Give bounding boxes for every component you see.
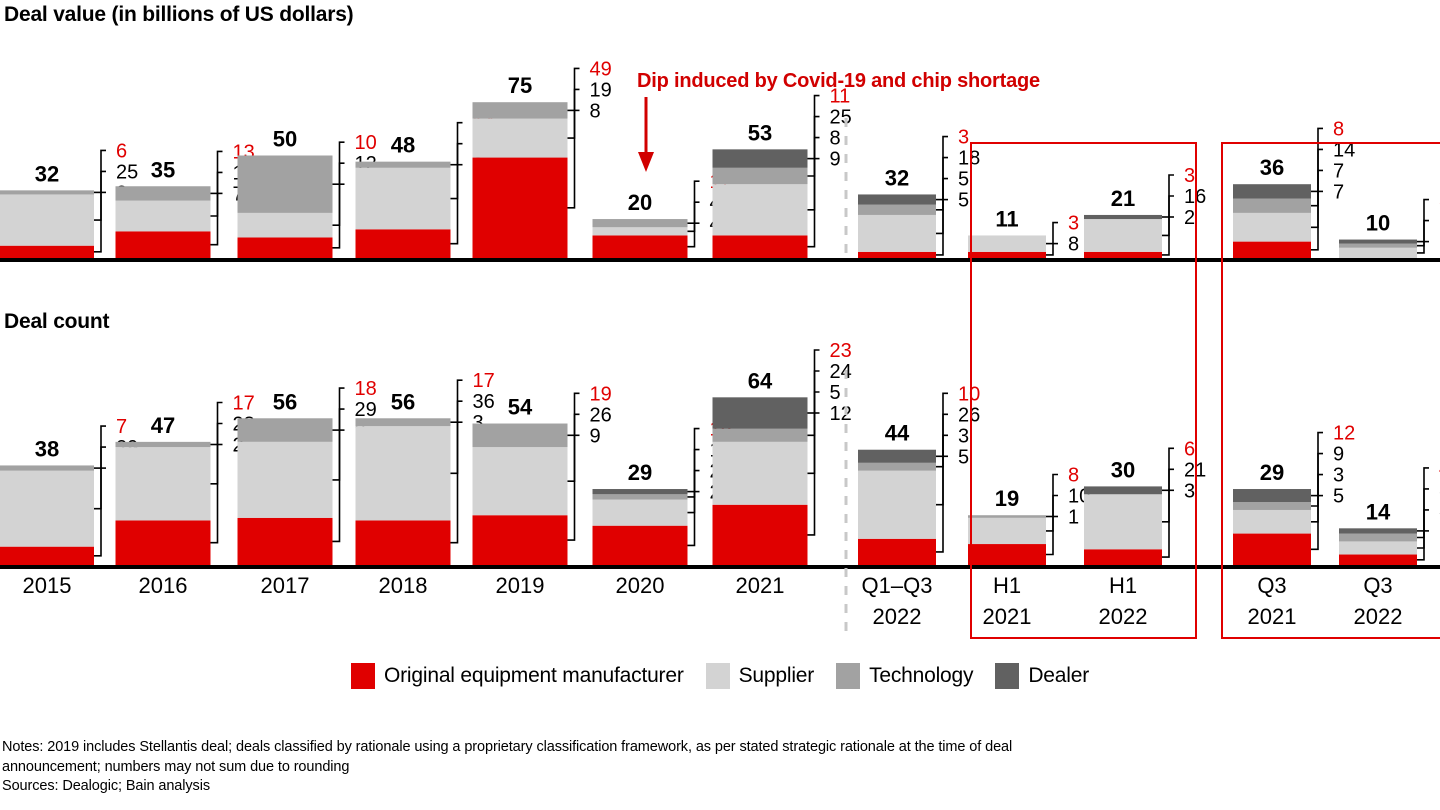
legend-swatch-oem-icon <box>351 663 375 689</box>
x-axis-label-sub-10: 2021 <box>1248 604 1297 629</box>
leader-line-value-9 <box>1162 196 1174 235</box>
segment-value-label-value-10: 8 <box>1333 118 1344 140</box>
bar-segment-value-0-1 <box>0 194 94 245</box>
segment-value-label-count-4: 26 <box>590 404 612 426</box>
bar-segment-value-11-3 <box>1339 240 1417 244</box>
bar-segment-count-11-3 <box>1339 528 1417 533</box>
segment-value-label-value-9: 3 <box>1184 165 1195 187</box>
x-axis-label-sub-11: 2022 <box>1354 604 1403 629</box>
bar-segment-value-11-2 <box>1339 244 1417 248</box>
bar-total-label-count-0: 38 <box>35 436 59 461</box>
leader-line-value-2 <box>333 142 345 248</box>
x-axis-label-1: 2016 <box>139 573 188 598</box>
leader-line-value-8 <box>1046 223 1058 255</box>
bar-segment-count-9-0 <box>1084 549 1162 565</box>
segment-value-label-count-2: 29 <box>355 399 377 421</box>
x-axis-label-10: Q3 <box>1257 573 1286 598</box>
bar-total-label-value-3: 48 <box>391 133 415 158</box>
bar-segment-count-4-0 <box>473 515 568 565</box>
bar-total-label-value-0: 32 <box>35 161 59 186</box>
segment-value-label-value-7: 5 <box>958 169 969 191</box>
bar-segment-count-11-0 <box>1339 555 1417 565</box>
leader-line-value-9 <box>1162 175 1174 255</box>
bar-segment-count-11-2 <box>1339 534 1417 542</box>
segment-value-label-count-6: 23 <box>830 340 852 362</box>
segment-value-label-value-7: 18 <box>958 148 980 170</box>
segment-value-label-count-7: 26 <box>958 404 980 426</box>
legend-item-technology[interactable]: Technology <box>836 663 973 689</box>
bar-segment-count-5-1 <box>593 500 688 526</box>
bar-total-label-count-5: 29 <box>628 460 652 485</box>
bar-segment-count-3-1 <box>356 426 451 520</box>
leader-line-count-10 <box>1311 475 1323 506</box>
bar-total-label-count-4: 54 <box>508 395 533 420</box>
x-axis-label-11: Q3 <box>1363 573 1392 598</box>
segment-value-label-value-6: 11 <box>830 86 851 108</box>
leader-line-count-1 <box>211 424 223 484</box>
bar-total-label-value-5: 20 <box>628 190 652 215</box>
segment-value-label-count-7: 3 <box>958 425 969 447</box>
bar-total-label-count-3: 56 <box>391 389 415 414</box>
leader-line-value-10 <box>1311 128 1323 249</box>
chart-legend: Original equipment manufacturer Supplier… <box>0 663 1440 689</box>
value-axis-baseline <box>0 258 1440 262</box>
bar-segment-value-10-1 <box>1233 213 1311 242</box>
leader-line-count-8 <box>1046 496 1058 531</box>
segment-value-label-count-9: 6 <box>1184 438 1195 460</box>
legend-swatch-dealer-icon <box>995 663 1019 689</box>
leader-line-value-10 <box>1311 149 1323 227</box>
leader-line-count-6 <box>808 371 820 473</box>
leader-line-value-10 <box>1311 170 1323 205</box>
bar-segment-count-9-3 <box>1084 486 1162 494</box>
bar-segment-value-10-0 <box>1233 242 1311 258</box>
x-axis-label-sub-9: 2022 <box>1099 604 1148 629</box>
bar-segment-count-5-0 <box>593 526 688 565</box>
segment-value-label-value-0: 25 <box>116 161 138 183</box>
bar-segment-count-7-1 <box>858 471 936 539</box>
dip-annotation-arrow-head <box>638 152 654 172</box>
leader-line-value-5 <box>688 181 700 247</box>
x-axis-label-0: 2015 <box>23 573 72 598</box>
bar-total-label-count-6: 64 <box>748 368 773 393</box>
leader-line-count-9 <box>1162 469 1174 522</box>
segment-value-label-value-7: 3 <box>958 127 969 149</box>
x-axis-label-3: 2018 <box>379 573 428 598</box>
segment-value-label-count-4: 9 <box>590 425 601 447</box>
leader-line-value-0 <box>94 150 106 251</box>
bar-segment-value-10-3 <box>1233 184 1311 198</box>
bar-segment-value-4-2 <box>473 102 568 118</box>
segment-value-label-value-4: 8 <box>590 100 601 122</box>
bar-segment-value-8-1 <box>968 235 1046 251</box>
bar-segment-count-10-1 <box>1233 510 1311 534</box>
bar-segment-value-6-0 <box>713 235 808 258</box>
legend-label-dealer: Dealer <box>1028 664 1089 688</box>
segment-value-label-count-6: 5 <box>830 382 841 404</box>
leader-line-count-4 <box>568 414 580 481</box>
segment-value-label-value-7: 5 <box>958 190 969 212</box>
legend-item-supplier[interactable]: Supplier <box>706 663 814 689</box>
segment-value-label-count-10: 3 <box>1333 465 1344 487</box>
leader-line-count-7 <box>936 393 948 552</box>
x-axis-label-2: 2017 <box>261 573 310 598</box>
leader-line-value-6 <box>808 96 820 247</box>
leader-line-count-9 <box>1162 448 1174 557</box>
leader-line-count-2 <box>333 409 345 480</box>
bar-segment-count-0-0 <box>0 547 94 565</box>
segment-value-label-count-10: 5 <box>1333 486 1344 508</box>
leader-line-count-7 <box>936 435 948 466</box>
bar-segment-value-2-0 <box>238 238 333 259</box>
leader-line-count-10 <box>1311 454 1323 522</box>
bar-total-label-count-9: 30 <box>1111 457 1135 482</box>
bar-total-label-value-2: 50 <box>273 127 297 152</box>
bar-segment-value-0-2 <box>0 190 94 194</box>
segment-value-label-value-8: 3 <box>1068 213 1079 235</box>
leader-line-value-1 <box>211 151 223 244</box>
leader-line-value-3 <box>451 144 463 199</box>
leader-line-count-6 <box>808 350 820 535</box>
bar-segment-value-1-2 <box>116 186 211 200</box>
bar-segment-value-5-2 <box>593 219 688 227</box>
segment-value-label-count-9: 3 <box>1184 480 1195 502</box>
leader-line-value-7 <box>936 137 948 255</box>
bar-segment-count-6-2 <box>713 429 808 442</box>
segment-value-label-value-4: 49 <box>590 58 612 80</box>
bar-segment-value-6-1 <box>713 184 808 235</box>
bar-total-label-count-8: 19 <box>995 486 1019 511</box>
x-axis-label-5: 2020 <box>616 573 665 598</box>
leader-line-count-0 <box>94 447 106 509</box>
segment-value-label-value-10: 7 <box>1333 181 1344 203</box>
leader-line-count-2 <box>333 388 345 541</box>
x-axis-label-sub-7: 2022 <box>873 604 922 629</box>
bar-segment-count-0-2 <box>0 465 94 470</box>
legend-swatch-supplier-icon <box>706 663 730 689</box>
legend-item-oem[interactable]: Original equipment manufacturer <box>351 663 684 689</box>
footnote-line-1: Notes: 2019 includes Stellantis deal; de… <box>2 738 1438 758</box>
bar-total-label-value-10: 36 <box>1260 155 1284 180</box>
segment-value-label-count-1: 17 <box>233 392 255 414</box>
bar-segment-value-0-0 <box>0 246 94 258</box>
leader-line-count-10 <box>1311 433 1323 550</box>
bar-segment-count-4-1 <box>473 447 568 515</box>
leader-line-count-11 <box>1417 489 1429 548</box>
bar-segment-count-3-2 <box>356 418 451 426</box>
legend-label-oem: Original equipment manufacturer <box>384 664 684 688</box>
bar-total-label-count-2: 56 <box>273 389 297 414</box>
bar-segment-count-2-0 <box>238 518 333 565</box>
bar-segment-value-10-2 <box>1233 199 1311 213</box>
leader-line-count-8 <box>1046 475 1058 555</box>
segment-value-label-value-8: 8 <box>1068 234 1079 256</box>
x-axis-label-4: 2019 <box>496 573 545 598</box>
segment-value-label-value-6: 8 <box>830 128 841 150</box>
bar-segment-count-6-3 <box>713 397 808 428</box>
footnotes-block: Notes: 2019 includes Stellantis deal; de… <box>2 738 1438 797</box>
bar-total-label-value-1: 35 <box>151 157 175 182</box>
bar-total-label-count-7: 44 <box>885 421 910 446</box>
leader-line-count-3 <box>451 401 463 473</box>
segment-value-label-value-2: 10 <box>355 132 377 154</box>
bar-segment-value-5-0 <box>593 235 688 258</box>
segment-value-label-value-9: 2 <box>1184 207 1195 229</box>
count-axis-baseline <box>0 565 1440 569</box>
legend-item-dealer[interactable]: Dealer <box>995 663 1089 689</box>
segment-value-label-value-6: 25 <box>830 107 852 129</box>
segment-value-label-value-10: 7 <box>1333 160 1344 182</box>
leader-line-value-4 <box>568 89 580 138</box>
x-axis-label-6: 2021 <box>736 573 785 598</box>
segment-value-label-count-3: 36 <box>473 391 495 413</box>
leader-line-count-0 <box>94 426 106 556</box>
footnote-line-2: announcement; numbers may not sum due to… <box>2 758 1438 778</box>
bar-segment-count-10-3 <box>1233 489 1311 502</box>
leader-line-value-7 <box>936 179 948 210</box>
segment-value-label-value-0: 6 <box>116 140 127 162</box>
bar-segment-count-6-1 <box>713 442 808 505</box>
segment-value-label-count-0: 7 <box>116 416 127 438</box>
segment-value-label-count-6: 24 <box>830 361 852 383</box>
bar-segment-count-0-1 <box>0 471 94 547</box>
bar-segment-value-11-1 <box>1339 248 1417 258</box>
leader-line-count-5 <box>688 471 700 497</box>
leader-line-value-6 <box>808 117 820 210</box>
leader-line-value-3 <box>451 123 463 244</box>
leader-line-count-5 <box>688 429 700 546</box>
segment-value-label-count-2: 18 <box>355 378 377 400</box>
leader-line-value-6 <box>808 138 820 176</box>
segment-value-label-value-4: 19 <box>590 79 612 101</box>
bar-segment-value-1-0 <box>116 231 211 258</box>
bar-segment-value-9-3 <box>1084 215 1162 219</box>
bar-segment-count-8-2 <box>968 515 1046 518</box>
bar-segment-count-11-1 <box>1339 541 1417 554</box>
bar-segment-count-1-0 <box>116 520 211 565</box>
bar-segment-count-7-0 <box>858 539 936 565</box>
x-axis-label-9: H1 <box>1109 573 1137 598</box>
footnote-line-3: Sources: Dealogic; Bain analysis <box>2 777 1438 797</box>
bar-total-label-value-4: 75 <box>508 73 532 98</box>
x-axis-label-8: H1 <box>993 573 1021 598</box>
bar-segment-value-8-0 <box>968 252 1046 258</box>
bar-segment-value-6-3 <box>713 149 808 167</box>
leader-line-value-2 <box>333 163 345 225</box>
bar-segment-count-7-2 <box>858 463 936 471</box>
bar-segment-value-9-0 <box>1084 252 1162 258</box>
leader-line-value-0 <box>94 171 106 220</box>
leader-line-count-7 <box>936 414 948 504</box>
segment-value-label-count-10: 12 <box>1333 423 1355 445</box>
bar-total-label-value-8: 11 <box>995 206 1018 231</box>
bar-total-label-value-6: 53 <box>748 120 772 145</box>
bar-segment-value-4-0 <box>473 158 568 258</box>
bar-segment-value-2-2 <box>238 156 333 213</box>
bar-segment-value-9-1 <box>1084 219 1162 252</box>
bar-segment-value-5-1 <box>593 227 688 235</box>
segment-value-label-count-10: 9 <box>1333 444 1344 466</box>
bar-segment-value-7-0 <box>858 252 936 258</box>
segment-value-label-count-6: 12 <box>830 403 852 425</box>
bar-segment-count-10-2 <box>1233 502 1311 510</box>
segment-value-label-count-8: 1 <box>1068 507 1079 529</box>
leader-line-count-3 <box>451 380 463 543</box>
legend-label-technology: Technology <box>869 664 973 688</box>
bar-segment-value-7-2 <box>858 205 936 215</box>
bar-segment-count-9-1 <box>1084 494 1162 549</box>
bar-segment-count-5-3 <box>593 489 688 494</box>
leader-line-value-7 <box>936 158 948 234</box>
segment-value-label-count-7: 5 <box>958 446 969 468</box>
leader-line-count-11 <box>1417 510 1429 538</box>
bar-segment-count-1-2 <box>116 442 211 447</box>
bar-segment-value-3-0 <box>356 229 451 258</box>
bar-segment-value-4-1 <box>473 119 568 158</box>
bar-total-label-count-1: 47 <box>151 413 175 438</box>
bar-segment-count-5-2 <box>593 494 688 499</box>
bar-total-label-value-9: 21 <box>1111 186 1135 211</box>
bar-segment-count-2-1 <box>238 442 333 518</box>
leader-line-count-11 <box>1417 468 1429 560</box>
bar-segment-value-7-3 <box>858 194 936 204</box>
bar-segment-count-1-1 <box>116 447 211 520</box>
bar-segment-value-7-1 <box>858 215 936 252</box>
segment-value-label-count-4: 19 <box>590 383 612 405</box>
bar-segment-count-6-0 <box>713 505 808 565</box>
bar-segment-value-3-1 <box>356 168 451 230</box>
segment-value-label-count-8: 8 <box>1068 465 1079 487</box>
bar-segment-value-3-2 <box>356 162 451 168</box>
leader-line-count-5 <box>688 450 700 513</box>
bar-segment-count-8-0 <box>968 544 1046 565</box>
bar-segment-value-1-1 <box>116 201 211 232</box>
bar-total-label-value-7: 32 <box>885 165 909 190</box>
bar-total-label-value-11: 10 <box>1366 211 1390 236</box>
legend-swatch-technology-icon <box>836 663 860 689</box>
bar-segment-count-8-1 <box>968 518 1046 544</box>
legend-label-supplier: Supplier <box>739 664 814 688</box>
bar-segment-count-3-0 <box>356 520 451 565</box>
x-axis-label-sub-8: 2021 <box>983 604 1032 629</box>
bar-total-label-count-11: 14 <box>1366 499 1391 524</box>
bar-segment-count-2-2 <box>238 418 333 442</box>
bar-segment-count-4-2 <box>473 424 568 448</box>
bar-segment-value-2-1 <box>238 213 333 238</box>
bar-total-label-count-10: 29 <box>1260 460 1284 485</box>
segment-value-label-value-6: 9 <box>830 149 841 171</box>
bar-segment-count-7-3 <box>858 450 936 463</box>
bar-segment-count-10-0 <box>1233 534 1311 565</box>
bar-segment-value-6-2 <box>713 168 808 184</box>
leader-line-value-5 <box>688 202 700 231</box>
chart-page: Deal value (in billions of US dollars) D… <box>0 0 1440 810</box>
x-axis-label-7: Q1–Q3 <box>862 573 933 598</box>
segment-value-label-count-7: 10 <box>958 383 980 405</box>
leader-line-count-4 <box>568 393 580 540</box>
segment-value-label-count-3: 17 <box>473 370 495 392</box>
